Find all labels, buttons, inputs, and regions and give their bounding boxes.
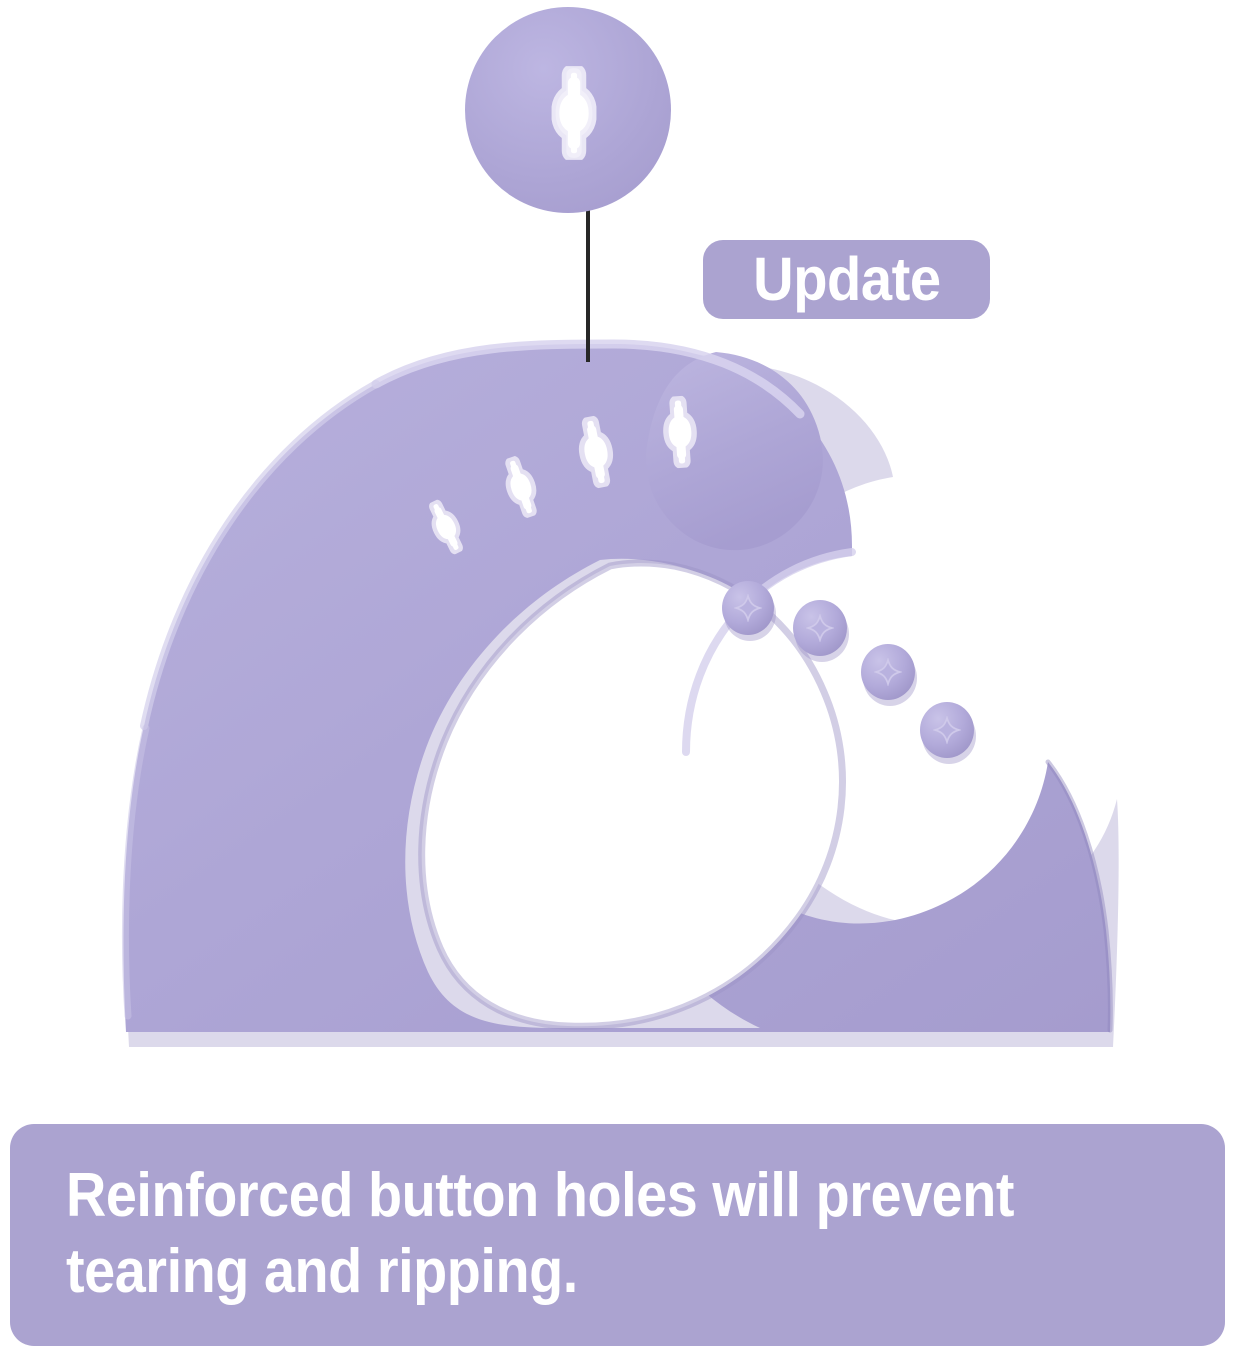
caption-text: Reinforced button holes will prevent tea… bbox=[66, 1158, 1061, 1310]
magnified-detail-circle bbox=[465, 7, 671, 213]
product-illustration bbox=[0, 0, 1235, 1075]
infographic-canvas: Update Reinforced button holes will prev… bbox=[0, 0, 1235, 1364]
update-badge: Update bbox=[703, 240, 990, 319]
snap-button-4 bbox=[920, 702, 976, 764]
caption-banner: Reinforced button holes will prevent tea… bbox=[10, 1124, 1225, 1346]
bib-vector-graphic bbox=[0, 0, 1235, 1075]
update-badge-label: Update bbox=[753, 249, 940, 310]
snap-button-3 bbox=[861, 644, 917, 706]
bib-body bbox=[123, 344, 1118, 1047]
